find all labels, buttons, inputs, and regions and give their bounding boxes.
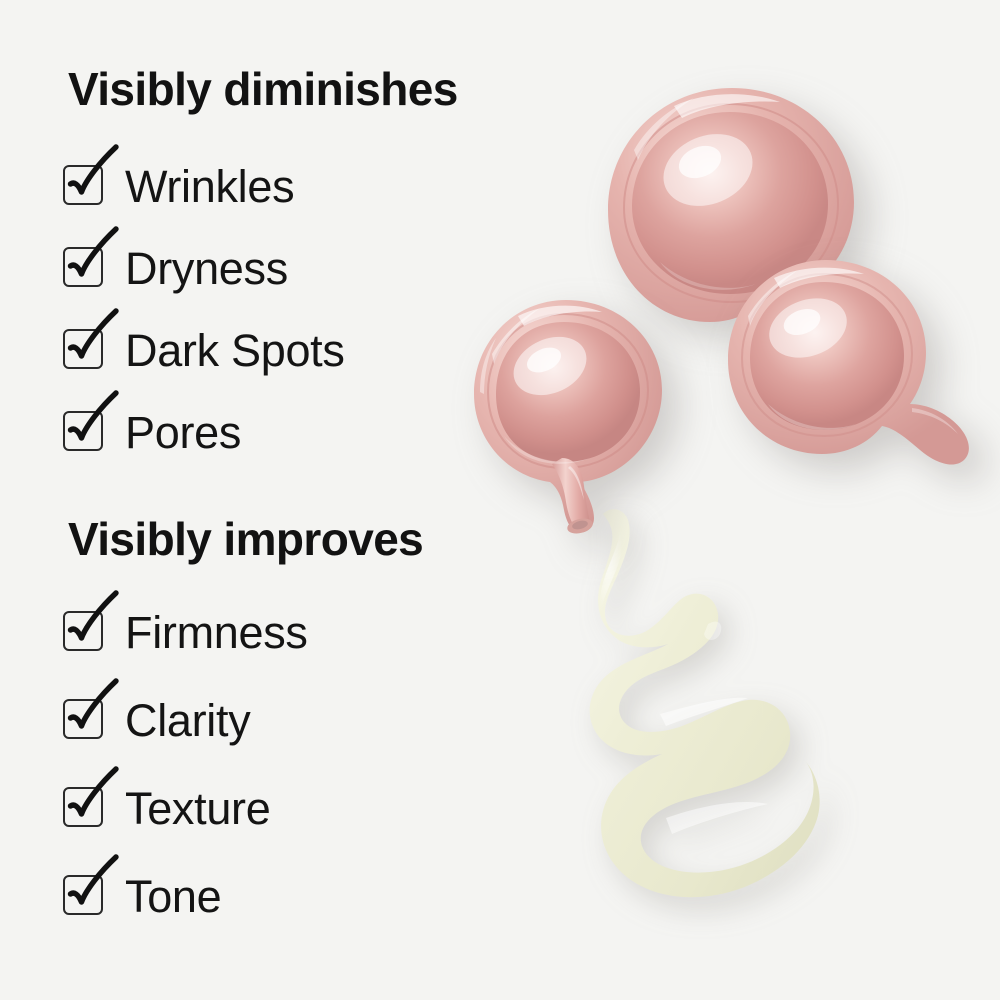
capsule-lower-right — [724, 256, 982, 476]
checkbox-checked-icon[interactable] — [62, 330, 102, 370]
benefit-item-clarity[interactable]: Clarity — [62, 694, 250, 746]
benefit-item-pores[interactable]: Pores — [62, 406, 241, 458]
benefit-label: Tone — [125, 874, 221, 919]
checkbox-checked-icon[interactable] — [62, 876, 102, 916]
benefit-item-dark-spots[interactable]: Dark Spots — [62, 324, 345, 376]
benefit-item-texture[interactable]: Texture — [62, 782, 270, 834]
checkbox-checked-icon[interactable] — [62, 166, 102, 206]
benefit-label: Texture — [125, 786, 270, 831]
benefit-label: Pores — [125, 410, 241, 455]
benefit-label: Wrinkles — [125, 164, 294, 209]
benefit-label: Firmness — [125, 610, 308, 655]
promo-graphic: Visibly diminishes Wrinkles Dryness — [0, 0, 1000, 1000]
benefit-item-dryness[interactable]: Dryness — [62, 242, 288, 294]
checkbox-checked-icon[interactable] — [62, 612, 102, 652]
checkbox-checked-icon[interactable] — [62, 412, 102, 452]
benefit-label: Dryness — [125, 246, 288, 291]
checkbox-checked-icon[interactable] — [62, 248, 102, 288]
checkbox-checked-icon[interactable] — [62, 788, 102, 828]
serum-swirl — [540, 500, 860, 920]
benefit-item-tone[interactable]: Tone — [62, 870, 221, 922]
checkbox-checked-icon[interactable] — [62, 700, 102, 740]
benefit-label: Clarity — [125, 698, 250, 743]
benefit-label: Dark Spots — [125, 328, 345, 373]
benefits-text-column: Visibly diminishes Wrinkles Dryness — [0, 0, 560, 1000]
benefit-item-firmness[interactable]: Firmness — [62, 606, 308, 658]
benefit-item-wrinkles[interactable]: Wrinkles — [62, 160, 294, 212]
section-heading-improves: Visibly improves — [68, 516, 423, 562]
section-heading-diminishes: Visibly diminishes — [68, 66, 458, 112]
